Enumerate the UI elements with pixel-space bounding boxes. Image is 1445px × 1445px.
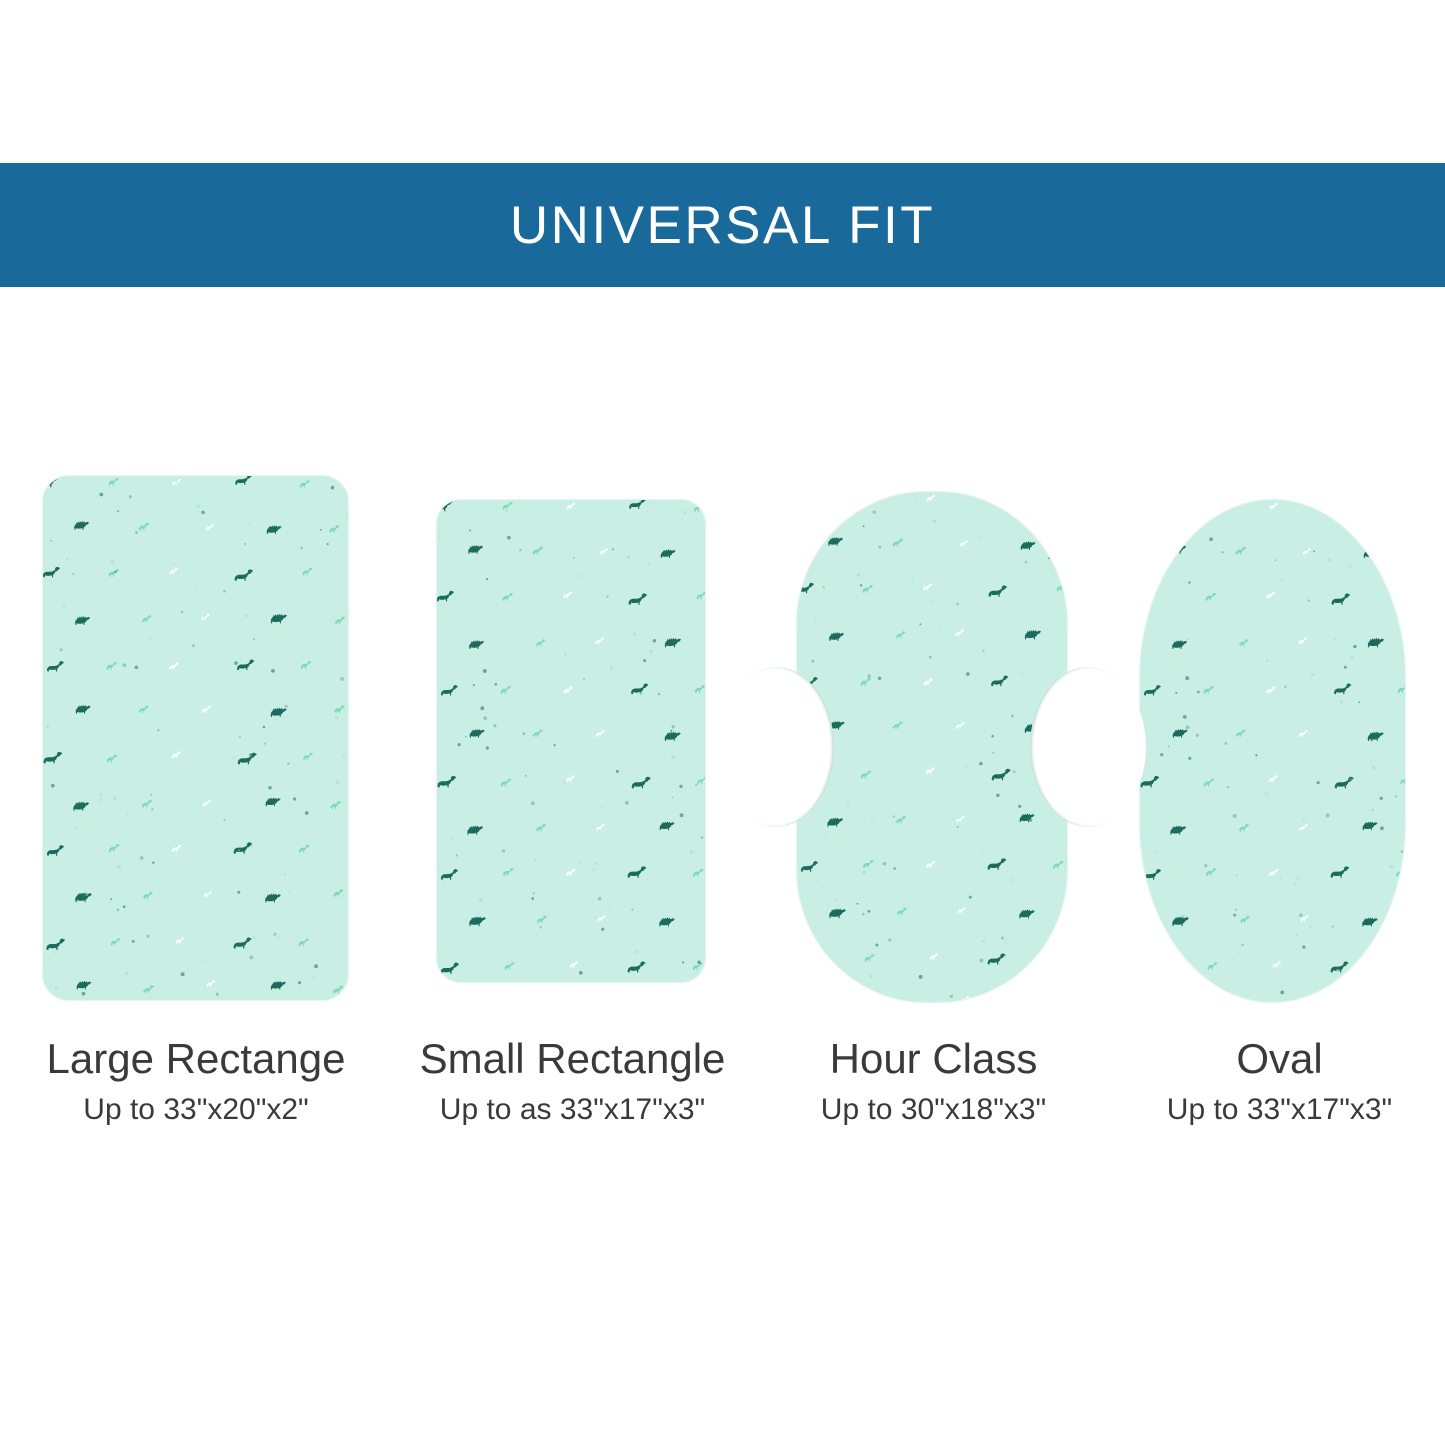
banner-title: UNIVERSAL FIT xyxy=(510,199,935,252)
product-title: Large Rectange xyxy=(0,1035,392,1084)
caption-large-rectangle: Large Rectange Up to 33"x20"x2" xyxy=(0,1035,392,1129)
caption-hour-class: Hour Class Up to 30"x18"x3" xyxy=(753,1035,1114,1129)
caption-small-rectangle: Small Rectangle Up to as 33"x17"x3" xyxy=(392,1035,753,1129)
universal-fit-banner: UNIVERSAL FIT xyxy=(0,163,1445,287)
product-hour-class: Hour Class Up to 30"x18"x3" xyxy=(753,287,1114,1287)
product-title: Hour Class xyxy=(753,1035,1114,1084)
product-dimensions: Up to 33"x17"x3" xyxy=(1114,1090,1445,1129)
caption-oval: Oval Up to 33"x17"x3" xyxy=(1114,1035,1445,1129)
product-oval: Oval Up to 33"x17"x3" xyxy=(1114,287,1445,1287)
product-dimensions: Up to as 33"x17"x3" xyxy=(392,1090,753,1129)
product-small-rectangle: Small Rectangle Up to as 33"x17"x3" xyxy=(392,287,753,1287)
product-large-rectangle: Large Rectange Up to 33"x20"x2" xyxy=(0,287,392,1287)
product-shape-row: Large Rectange Up to 33"x20"x2" Small Re… xyxy=(0,287,1445,1287)
product-dimensions: Up to 30"x18"x3" xyxy=(753,1090,1114,1129)
product-title: Oval xyxy=(1114,1035,1445,1084)
product-title: Small Rectangle xyxy=(392,1035,753,1084)
product-dimensions: Up to 33"x20"x2" xyxy=(0,1090,392,1129)
